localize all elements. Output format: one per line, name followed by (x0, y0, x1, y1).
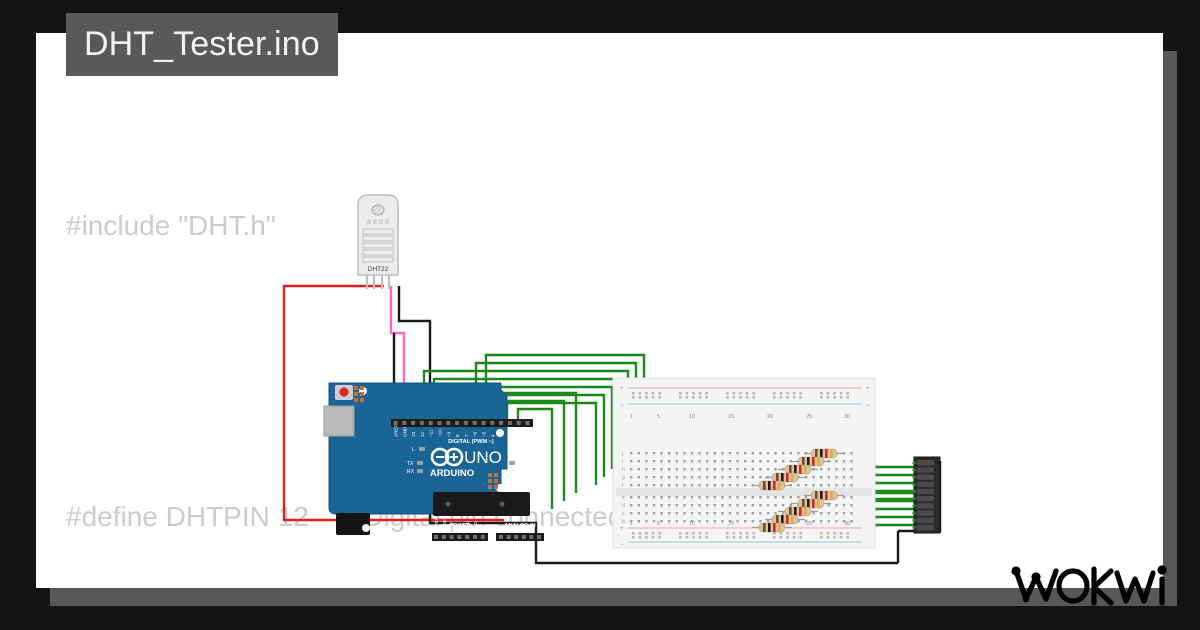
file-title-tab[interactable]: DHT_Tester.ino (66, 13, 338, 76)
breadboard-hole (645, 504, 647, 506)
breadboard-hole (752, 476, 754, 478)
breadboard-hole (698, 452, 700, 454)
breadboard-hole (645, 496, 647, 498)
breadboard-hole (827, 536, 830, 539)
breadboard-hole (691, 476, 693, 478)
digital-pin-label: ~3 (499, 431, 504, 437)
led-segment[interactable] (917, 489, 934, 494)
digital-pin (420, 421, 424, 425)
breadboard-hole (833, 392, 836, 395)
breadboard-hole (746, 536, 749, 539)
breadboard-hole (793, 392, 796, 395)
breadboard-hole (691, 512, 693, 514)
breadboard-hole (692, 536, 695, 539)
breadboard-hole (729, 452, 731, 454)
breadboard-hole (733, 532, 736, 535)
breadboard-hole (686, 536, 689, 539)
svg-text:L: L (412, 447, 415, 453)
analog-pin (507, 535, 511, 539)
breadboard-hole (652, 392, 655, 395)
led-anode-pin (913, 519, 916, 522)
led-segment[interactable] (917, 460, 934, 465)
breadboard-hole (850, 504, 852, 506)
breadboard-hole (683, 520, 685, 522)
breadboard-hole (638, 520, 640, 522)
breadboard-hole (686, 532, 689, 535)
breadboard-hole (706, 504, 708, 506)
breadboard-hole (850, 496, 852, 498)
svg-text:i: i (622, 459, 623, 465)
breadboard-hole (827, 532, 830, 535)
breadboard-hole (686, 392, 689, 395)
breadboard-hole (660, 496, 662, 498)
breadboard-hole (759, 496, 761, 498)
breadboard-hole (691, 504, 693, 506)
dht22-top-hole (372, 205, 384, 215)
breadboard-hole (721, 452, 723, 454)
breadboard-hole (706, 520, 708, 522)
led-cathode-pin (935, 483, 938, 486)
breadboard-hole (721, 504, 723, 506)
svg-text:20: 20 (767, 414, 773, 420)
breadboard-hole (744, 460, 746, 462)
breadboard-hole (676, 468, 678, 470)
breadboard-hole (828, 468, 830, 470)
breadboard-hole (729, 484, 731, 486)
breadboard-hole (698, 520, 700, 522)
digital-pin (508, 421, 512, 425)
analog-pin-label: A2 (514, 525, 519, 531)
breadboard-hole (773, 532, 776, 535)
breadboard-hole (759, 452, 761, 454)
breadboard-hole (698, 484, 700, 486)
breadboard-hole (679, 392, 682, 395)
breadboard-hole (726, 392, 729, 395)
breadboard-hole (850, 512, 852, 514)
breadboard-hole (828, 512, 830, 514)
analog-header[interactable] (496, 533, 544, 541)
breadboard-hole (767, 452, 769, 454)
breadboard-hole (632, 536, 635, 539)
led-segment[interactable] (917, 518, 934, 523)
digital-pin (411, 421, 415, 425)
breadboard-hole (630, 484, 632, 486)
breadboard-hole (744, 496, 746, 498)
breadboard-hole (774, 468, 776, 470)
breadboard-hole (638, 476, 640, 478)
breadboard-hole (683, 452, 685, 454)
breadboard-hole (780, 536, 783, 539)
analog-pin-label: A1 (507, 525, 512, 531)
breadboard-hole (714, 468, 716, 470)
power-pin-label: RESET (442, 516, 447, 531)
breadboard-hole (652, 532, 655, 535)
breadboard-hole (639, 532, 642, 535)
digital-pin (429, 421, 433, 425)
breadboard-hole (786, 536, 789, 539)
breadboard-hole (797, 496, 799, 498)
breadboard-hole (706, 460, 708, 462)
breadboard-hole (668, 520, 670, 522)
breadboard-hole (692, 396, 695, 399)
analog-pin-label: A5 (537, 525, 542, 531)
power-pin-label: GND (473, 521, 478, 531)
breadboard-hole (638, 468, 640, 470)
rail-plus-label: + (866, 386, 870, 392)
breadboard-hole (840, 392, 843, 395)
breadboard-hole (658, 392, 661, 395)
breadboard-hole (793, 536, 796, 539)
led-anode-pin (913, 469, 916, 472)
digital-pin-label: 4 (490, 434, 495, 437)
mounting-hole (362, 524, 370, 532)
breadboard-hole (774, 452, 776, 454)
led-segment[interactable] (917, 510, 934, 515)
breadboard-hole (645, 396, 648, 399)
led-segment[interactable] (917, 474, 934, 479)
breadboard-hole (828, 520, 830, 522)
breadboard-hole (820, 468, 822, 470)
led-anode-pin (913, 505, 916, 508)
breadboard-hole (630, 520, 632, 522)
breadboard-hole (767, 520, 769, 522)
breadboard-hole (698, 460, 700, 462)
breadboard-hole (645, 484, 647, 486)
breadboard-hole (840, 532, 843, 535)
breadboard-hole (645, 536, 648, 539)
svg-text:h: h (622, 467, 625, 473)
breadboard-hole (698, 468, 700, 470)
breadboard-hole (658, 532, 661, 535)
breadboard-hole (835, 476, 837, 478)
breadboard-hole (850, 520, 852, 522)
breadboard-hole (805, 484, 807, 486)
svg-text:25: 25 (806, 414, 812, 420)
breadboard-hole (786, 532, 789, 535)
led-segment[interactable] (917, 525, 934, 530)
breadboard-hole (698, 476, 700, 478)
breadboard-hole (692, 532, 695, 535)
logo-o (1059, 571, 1087, 601)
breadboard-hole (638, 504, 640, 506)
analog-pin (499, 535, 503, 539)
breadboard-hole (645, 512, 647, 514)
breadboard-hole (843, 496, 845, 498)
breadboard-hole (639, 536, 642, 539)
breadboard-hole (835, 460, 837, 462)
breadboard-hole (729, 468, 731, 470)
analog-pin (537, 535, 541, 539)
breadboard-hole (714, 512, 716, 514)
breadboard-hole (638, 496, 640, 498)
breadboard-hole (721, 484, 723, 486)
analog-pin (514, 535, 518, 539)
breadboard-hole (797, 452, 799, 454)
breadboard-hole (773, 536, 776, 539)
breadboard-hole (733, 396, 736, 399)
breadboard-hole (733, 392, 736, 395)
breadboard-hole (683, 512, 685, 514)
breadboard-hole (706, 468, 708, 470)
svg-text:15: 15 (728, 414, 734, 420)
breadboard-hole (835, 504, 837, 506)
breadboard-hole (739, 392, 742, 395)
reset-button-cap[interactable] (339, 387, 348, 396)
breadboard-hole (812, 512, 814, 514)
breadboard-hole (773, 392, 776, 395)
breadboard-hole (782, 460, 784, 462)
breadboard-hole (820, 512, 822, 514)
led-bar-graph[interactable] (913, 457, 941, 533)
breadboard-hole (786, 392, 789, 395)
breadboard-hole (668, 460, 670, 462)
led-segment[interactable] (917, 503, 934, 508)
breadboard-hole (782, 504, 784, 506)
breadboard-hole (676, 452, 678, 454)
board-model-label: UNO (464, 448, 502, 467)
breadboard-hole (645, 468, 647, 470)
breadboard-hole (773, 396, 776, 399)
analog-pin-label: A3 (522, 525, 527, 531)
breadboard-hole (630, 476, 632, 478)
breadboard-hole (683, 496, 685, 498)
breadboard-hole (736, 504, 738, 506)
breadboard-hole (774, 460, 776, 462)
breadboard-hole (660, 512, 662, 514)
breadboard[interactable]: + − + − + − 1510 152025 30 1510 152025 3… (613, 378, 875, 548)
breadboard-hole (793, 396, 796, 399)
breadboard-hole (780, 532, 783, 535)
breadboard-hole (786, 396, 789, 399)
breadboard-hole (759, 504, 761, 506)
breadboard-hole (799, 532, 802, 535)
led-anode-pin (913, 490, 916, 493)
led-anode-pin (913, 512, 916, 515)
power-pin-label: 5V (457, 526, 462, 531)
digital-pin-label: ~11 (429, 429, 434, 437)
breadboard-hole (721, 460, 723, 462)
breadboard-hole (630, 504, 632, 506)
breadboard-hole (767, 496, 769, 498)
breadboard-hole (799, 392, 802, 395)
breadboard-hole (752, 392, 755, 395)
breadboard-hole (736, 496, 738, 498)
breadboard-hole (812, 476, 814, 478)
breadboard-hole (843, 512, 845, 514)
breadboard-hole (660, 460, 662, 462)
breadboard-hole (835, 484, 837, 486)
breadboard-hole (744, 512, 746, 514)
digital-pin-label: 7 (464, 434, 469, 437)
breadboard-hole (658, 536, 661, 539)
breadboard-hole (780, 392, 783, 395)
breadboard-hole (698, 512, 700, 514)
breadboard-hole (744, 452, 746, 454)
breadboard-hole (850, 484, 852, 486)
breadboard-hole (746, 532, 749, 535)
digital-pin (446, 421, 450, 425)
breadboard-hole (653, 512, 655, 514)
breadboard-hole (676, 520, 678, 522)
breadboard-hole (683, 484, 685, 486)
breadboard-hole (639, 396, 642, 399)
breadboard-hole (658, 396, 661, 399)
breadboard-hole (676, 504, 678, 506)
wokwi-circuit-diagram: DHT22 + − + − + − (36, 33, 1163, 588)
breadboard-hole (721, 512, 723, 514)
breadboard-hole (828, 504, 830, 506)
analog-pin-label: A0 (499, 525, 504, 531)
breadboard-hole (660, 468, 662, 470)
svg-text:5: 5 (657, 521, 660, 527)
breadboard-hole (840, 536, 843, 539)
breadboard-hole (653, 452, 655, 454)
breadboard-hole (639, 392, 642, 395)
breadboard-hole (820, 536, 823, 539)
breadboard-hole (638, 484, 640, 486)
breadboard-hole (668, 512, 670, 514)
breadboard-hole (699, 396, 702, 399)
breadboard-hole (827, 392, 830, 395)
breadboard-hole (729, 512, 731, 514)
chip-marking (445, 501, 450, 506)
digital-pin (438, 421, 442, 425)
breadboard-hole (653, 520, 655, 522)
breadboard-hole (790, 496, 792, 498)
breadboard-hole (843, 504, 845, 506)
breadboard-hole (630, 468, 632, 470)
analog-pin (529, 535, 533, 539)
breadboard-hole (759, 476, 761, 478)
breadboard-hole (782, 452, 784, 454)
breadboard-hole (679, 396, 682, 399)
digital-pin (394, 421, 398, 425)
svg-text:1: 1 (630, 414, 633, 420)
breadboard-hole (843, 468, 845, 470)
led-segment[interactable] (917, 467, 934, 472)
breadboard-hole (691, 520, 693, 522)
breadboard-hole (774, 496, 776, 498)
digital-pin-label: AREF (394, 425, 399, 437)
svg-text:30: 30 (844, 414, 850, 420)
breadboard-hole (843, 520, 845, 522)
wokwi-logo-mark (1010, 561, 1170, 609)
breadboard-hole (714, 484, 716, 486)
rail-plus-label: + (620, 386, 624, 392)
project-card-clip: #include "DHT.h" #define DHTPIN 12 // Di… (36, 33, 1163, 588)
breadboard-hole (752, 536, 755, 539)
led-segment[interactable] (917, 496, 934, 501)
breadboard-hole (676, 476, 678, 478)
breadboard-hole (780, 396, 783, 399)
breadboard-hole (729, 504, 731, 506)
breadboard-hole (729, 460, 731, 462)
breadboard-hole (736, 452, 738, 454)
svg-text:g: g (622, 475, 625, 481)
breadboard-hole (805, 520, 807, 522)
breadboard-hole (736, 476, 738, 478)
dht22-sensor[interactable]: DHT22 (358, 195, 398, 289)
breadboard-hole (660, 452, 662, 454)
chip-marking (499, 501, 504, 506)
svg-text:b: b (622, 519, 625, 525)
breadboard-hole (676, 512, 678, 514)
breadboard-hole (850, 476, 852, 478)
breadboard-hole (645, 460, 647, 462)
digital-pin-label: ~6 (473, 431, 478, 437)
svg-text:TX: TX (407, 461, 414, 467)
svg-text:j: j (621, 451, 623, 457)
breadboard-hole (729, 520, 731, 522)
breadboard-hole (767, 460, 769, 462)
digital-pin-label: RX 0 (526, 426, 531, 437)
breadboard-hole (668, 476, 670, 478)
breadboard-hole (638, 460, 640, 462)
breadboard-hole (692, 392, 695, 395)
led-cathode-pin (935, 461, 938, 464)
breadboard-hole (812, 484, 814, 486)
breadboard-hole (714, 452, 716, 454)
breadboard-hole (752, 496, 754, 498)
digital-pin (490, 421, 494, 425)
digital-pin-label: ~9 (446, 431, 451, 437)
breadboard-hole (850, 468, 852, 470)
breadboard-hole (686, 396, 689, 399)
breadboard-hole (705, 536, 708, 539)
project-card: #include "DHT.h" #define DHTPIN 12 // Di… (36, 33, 1163, 588)
breadboard-hole (653, 476, 655, 478)
led-cathode-pin (935, 469, 938, 472)
breadboard-hole (843, 460, 845, 462)
breadboard-hole (850, 452, 852, 454)
svg-text:ON: ON (520, 461, 528, 467)
breadboard-hole (843, 484, 845, 486)
breadboard-hole (721, 520, 723, 522)
breadboard-hole (744, 504, 746, 506)
breadboard-hole (782, 496, 784, 498)
breadboard-hole (820, 396, 823, 399)
breadboard-hole (767, 468, 769, 470)
breadboard-hole (630, 512, 632, 514)
breadboard-hole (805, 476, 807, 478)
breadboard-hole (714, 520, 716, 522)
breadboard-hole (793, 532, 796, 535)
rail-plus-label: + (620, 526, 624, 532)
breadboard-hole (820, 392, 823, 395)
breadboard-hole (759, 460, 761, 462)
breadboard-hole (721, 468, 723, 470)
svg-text:e: e (622, 495, 625, 501)
breadboard-hole (733, 536, 736, 539)
breadboard-hole (714, 476, 716, 478)
led-segment[interactable] (917, 482, 934, 487)
breadboard-hole (835, 468, 837, 470)
breadboard-hole (699, 532, 702, 535)
arduino-uno-board[interactable]: AREFGND1312~11~10~987~6~54~32TX 1RX 0 DI… (324, 383, 544, 541)
breadboard-hole (668, 496, 670, 498)
breadboard-hole (774, 512, 776, 514)
breadboard-hole (638, 452, 640, 454)
breadboard-hole (660, 476, 662, 478)
breadboard-hole (691, 452, 693, 454)
digital-pin-label: ~10 (438, 429, 443, 437)
wire-signal (507, 401, 564, 501)
breadboard-hole (820, 520, 822, 522)
breadboard-hole (820, 532, 823, 535)
rail-minus-label: − (620, 403, 624, 409)
led-cathode-pin (935, 505, 938, 508)
breadboard-hole (752, 460, 754, 462)
